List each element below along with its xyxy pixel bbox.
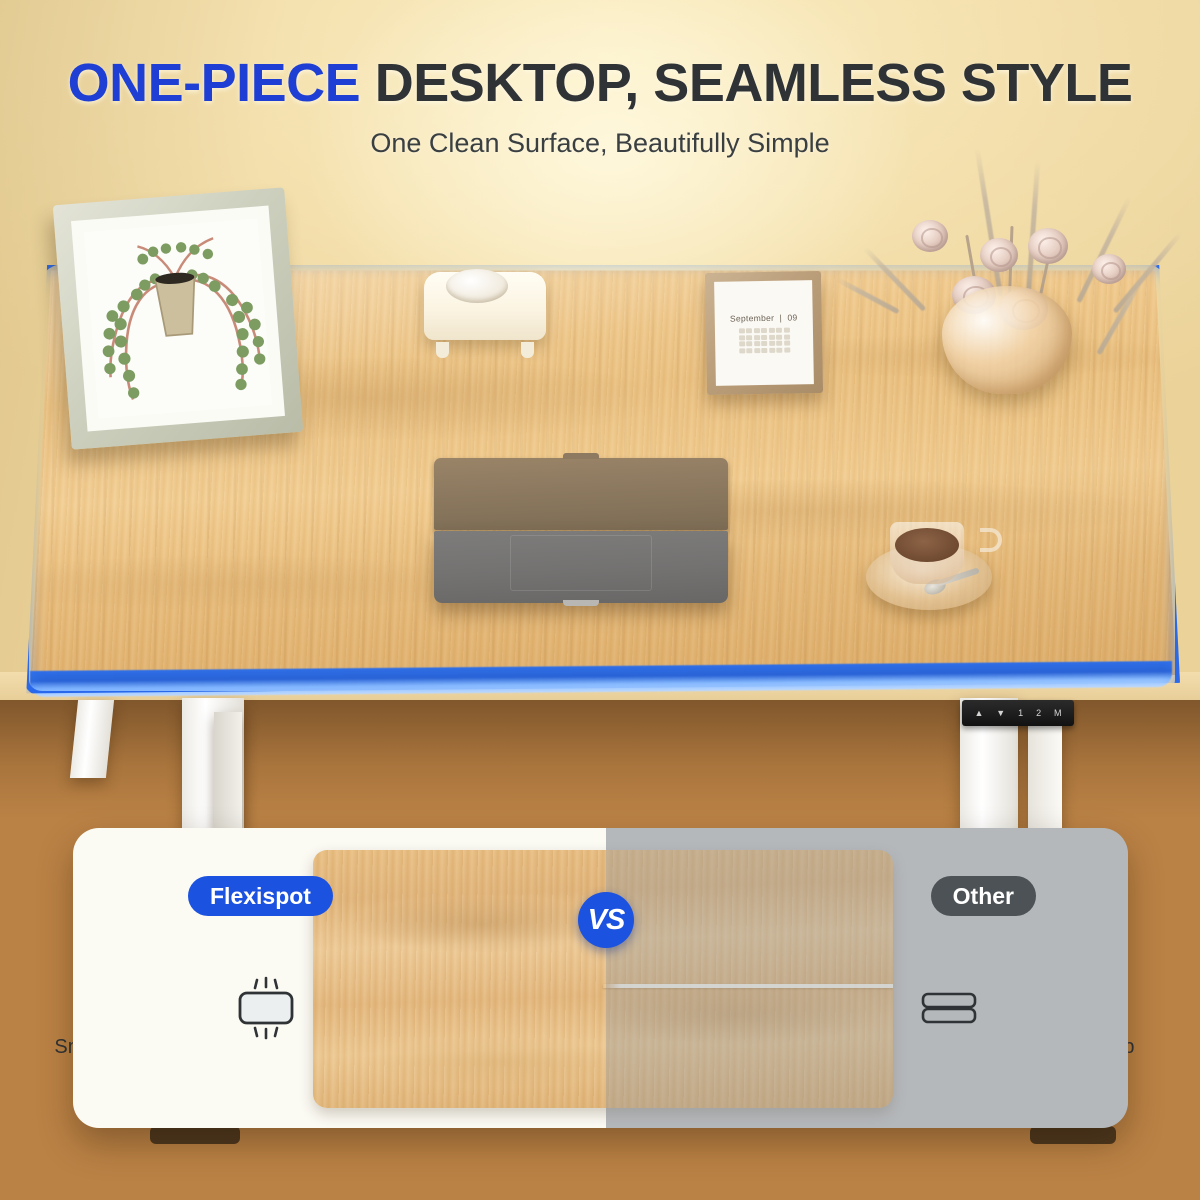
vs-badge: VS [578, 892, 634, 948]
rose [912, 220, 948, 252]
controller-key-memory[interactable]: M [1054, 709, 1062, 718]
controller-key-preset-1[interactable]: 1 [1018, 709, 1023, 718]
pampas-stem [1026, 160, 1040, 294]
headline-highlight: ONE-PIECE [68, 53, 361, 113]
calendar-day: 09 [787, 313, 797, 323]
coffee-cup-with-saucer [866, 508, 992, 614]
laptop-hinge [563, 453, 598, 459]
single-piece-desktop-icon [223, 976, 309, 1040]
laptop-latch-notch [563, 600, 598, 606]
pampas-stem [1096, 273, 1146, 355]
glass-vase [942, 286, 1072, 394]
controller-key-down[interactable]: ▼ [996, 709, 1005, 718]
swatch-grain-b [591, 984, 881, 1046]
calendar-frame: September | 09 [705, 271, 823, 395]
laptop-lid [434, 458, 728, 530]
controller-key-up[interactable]: ▲ [974, 709, 983, 718]
swatch-grain-a [348, 896, 615, 953]
rose [980, 238, 1018, 272]
calendar-grid [738, 328, 789, 353]
laptop-base [434, 531, 728, 603]
humidifier-foot-right [521, 342, 534, 358]
rose [1092, 254, 1126, 284]
rose [1028, 228, 1068, 264]
plant-svg [84, 218, 272, 418]
white-humidifier [424, 272, 546, 358]
desk-height-controller[interactable]: ▲ ▼ 1 2 M [962, 700, 1074, 726]
picture-frame-border [53, 187, 304, 449]
humidifier-cap [446, 269, 508, 303]
header: ONE-PIECE DESKTOP, SEAMLESS STYLE One Cl… [0, 0, 1200, 159]
calendar-title: September | 09 [730, 313, 798, 324]
page-title: ONE-PIECE DESKTOP, SEAMLESS STYLE [0, 52, 1200, 114]
pampas-stem [975, 147, 1003, 296]
desk-foot-left [150, 1126, 240, 1144]
pampas-stem [1076, 197, 1131, 303]
picture-frame-mat [71, 206, 285, 432]
splice-seam-line [603, 984, 893, 988]
swatch-grain-c [371, 1036, 626, 1088]
calendar-month: September [730, 313, 774, 324]
spliced-desktop-icon [906, 976, 992, 1040]
comparison-panel: Flexispot Other [73, 828, 1128, 1128]
framed-plant-art [53, 187, 304, 449]
flower-vase-arrangement [880, 150, 1180, 400]
desk-foot-right [1030, 1126, 1116, 1144]
humidifier-foot-left [436, 342, 449, 358]
headline-rest: DESKTOP, SEAMLESS STYLE [360, 53, 1132, 113]
laptop-trackpad [510, 535, 651, 591]
glass-cup [890, 522, 964, 584]
brand-badge-flexispot: Flexispot [188, 876, 333, 916]
plant-illustration [84, 218, 272, 418]
calendar-sheet: September | 09 [714, 280, 814, 386]
closed-laptop [434, 458, 728, 600]
brand-badge-other: Other [931, 876, 1036, 916]
desk-calendar: September | 09 [705, 271, 823, 395]
calendar-separator: | [777, 313, 785, 323]
subtitle: One Clean Surface, Beautifully Simple [0, 128, 1200, 159]
coffee-surface [895, 528, 959, 562]
controller-key-preset-2[interactable]: 2 [1036, 709, 1041, 718]
desktop-wood-swatch [313, 850, 893, 1108]
marketing-image-stage: ONE-PIECE DESKTOP, SEAMLESS STYLE One Cl… [0, 0, 1200, 1200]
